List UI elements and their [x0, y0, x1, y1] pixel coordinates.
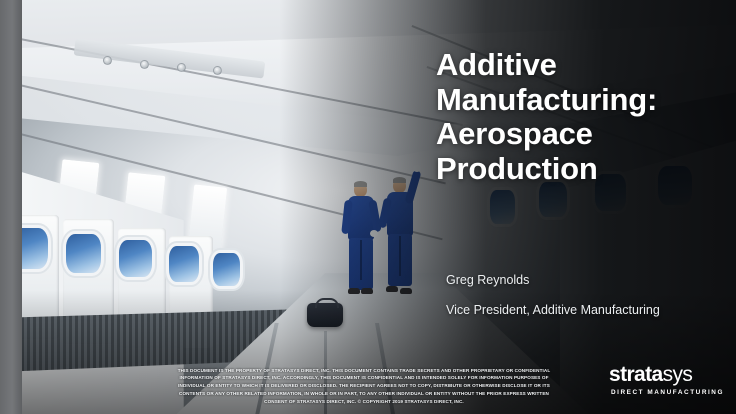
disclaimer-line-1: THIS DOCUMENT IS THE PROPERTY OF STRATAS… — [120, 367, 608, 375]
logo-wordmark: stratasys — [609, 364, 724, 385]
speaker-role: Vice President, Additive Manufacturing — [446, 303, 736, 317]
speaker-name: Greg Reynolds — [446, 273, 726, 287]
disclaimer-line-5: CONSENT OF STRATASYS DIRECT, INC. © COPY… — [120, 398, 608, 406]
title-line-4: Production — [436, 152, 726, 187]
disclaimer-line-3: INDIVIDUAL OR ENTITY TO WHICH IT IS DELI… — [120, 382, 608, 390]
logo-word-light: sys — [663, 363, 693, 386]
logo-word-bold: strata — [609, 363, 663, 386]
title-line-3: Aerospace — [436, 117, 726, 152]
stratasys-logo: stratasys DIRECT MANUFACTURING — [609, 364, 724, 396]
page-title: Additive Manufacturing: Aerospace Produc… — [436, 48, 726, 187]
legal-disclaimer: THIS DOCUMENT IS THE PROPERTY OF STRATAS… — [120, 367, 608, 406]
logo-tagline: DIRECT MANUFACTURING — [609, 389, 724, 396]
presentation-slide: Additive Manufacturing: Aerospace Produc… — [0, 0, 736, 414]
disclaimer-line-4: CONTENTS OR ANY OTHER RELATED INFORMATIO… — [120, 390, 608, 398]
left-edge-bar — [0, 0, 22, 414]
disclaimer-line-2: INFORMATION OF STRATASYS DIRECT, INC. AC… — [120, 374, 608, 382]
title-line-1: Additive — [436, 48, 726, 83]
title-line-2: Manufacturing: — [436, 83, 726, 118]
